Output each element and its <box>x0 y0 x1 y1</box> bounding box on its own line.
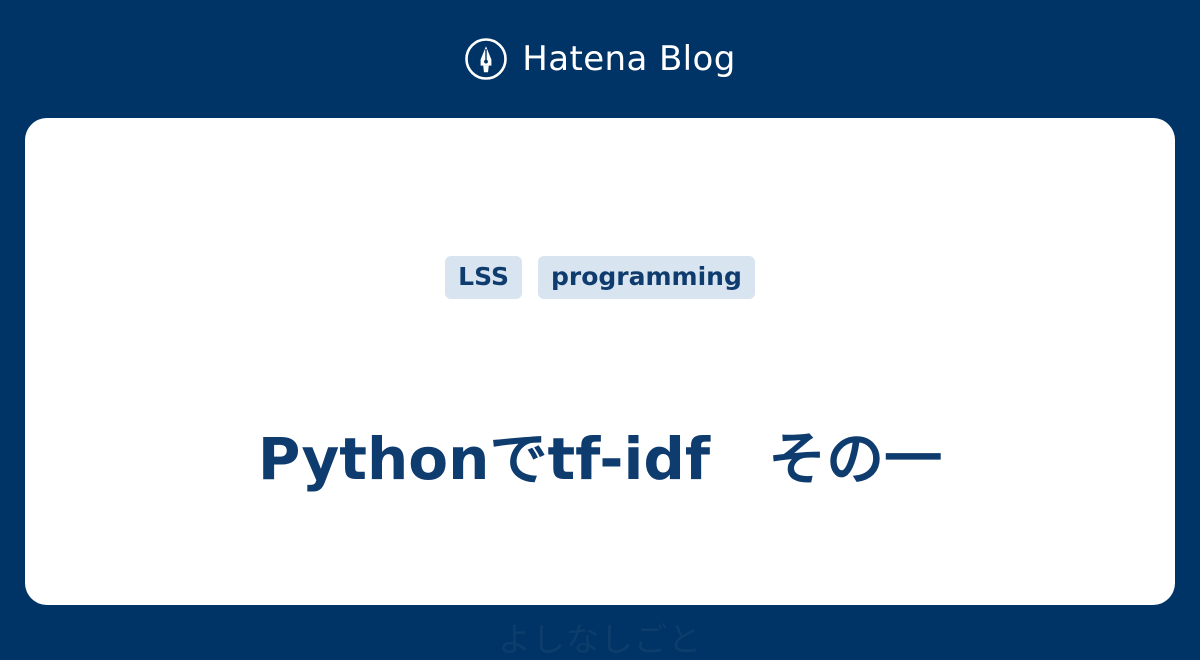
open-graph-card: Hatena Blog LSS programming Pythonでtf-id… <box>0 0 1200 630</box>
entry-card: LSS programming Pythonでtf-idf その一 よしなしごと <box>25 118 1175 605</box>
tag-chip[interactable]: programming <box>538 256 755 299</box>
tag-chip[interactable]: LSS <box>445 256 522 299</box>
service-name: Hatena Blog <box>522 42 735 76</box>
tag-list: LSS programming <box>25 256 1175 299</box>
blog-name: よしなしごと <box>85 620 1115 660</box>
entry-title: Pythonでtf-idf その一 <box>85 423 1115 496</box>
site-header: Hatena Blog <box>0 0 1200 118</box>
pen-nib-circle-icon <box>464 37 508 81</box>
